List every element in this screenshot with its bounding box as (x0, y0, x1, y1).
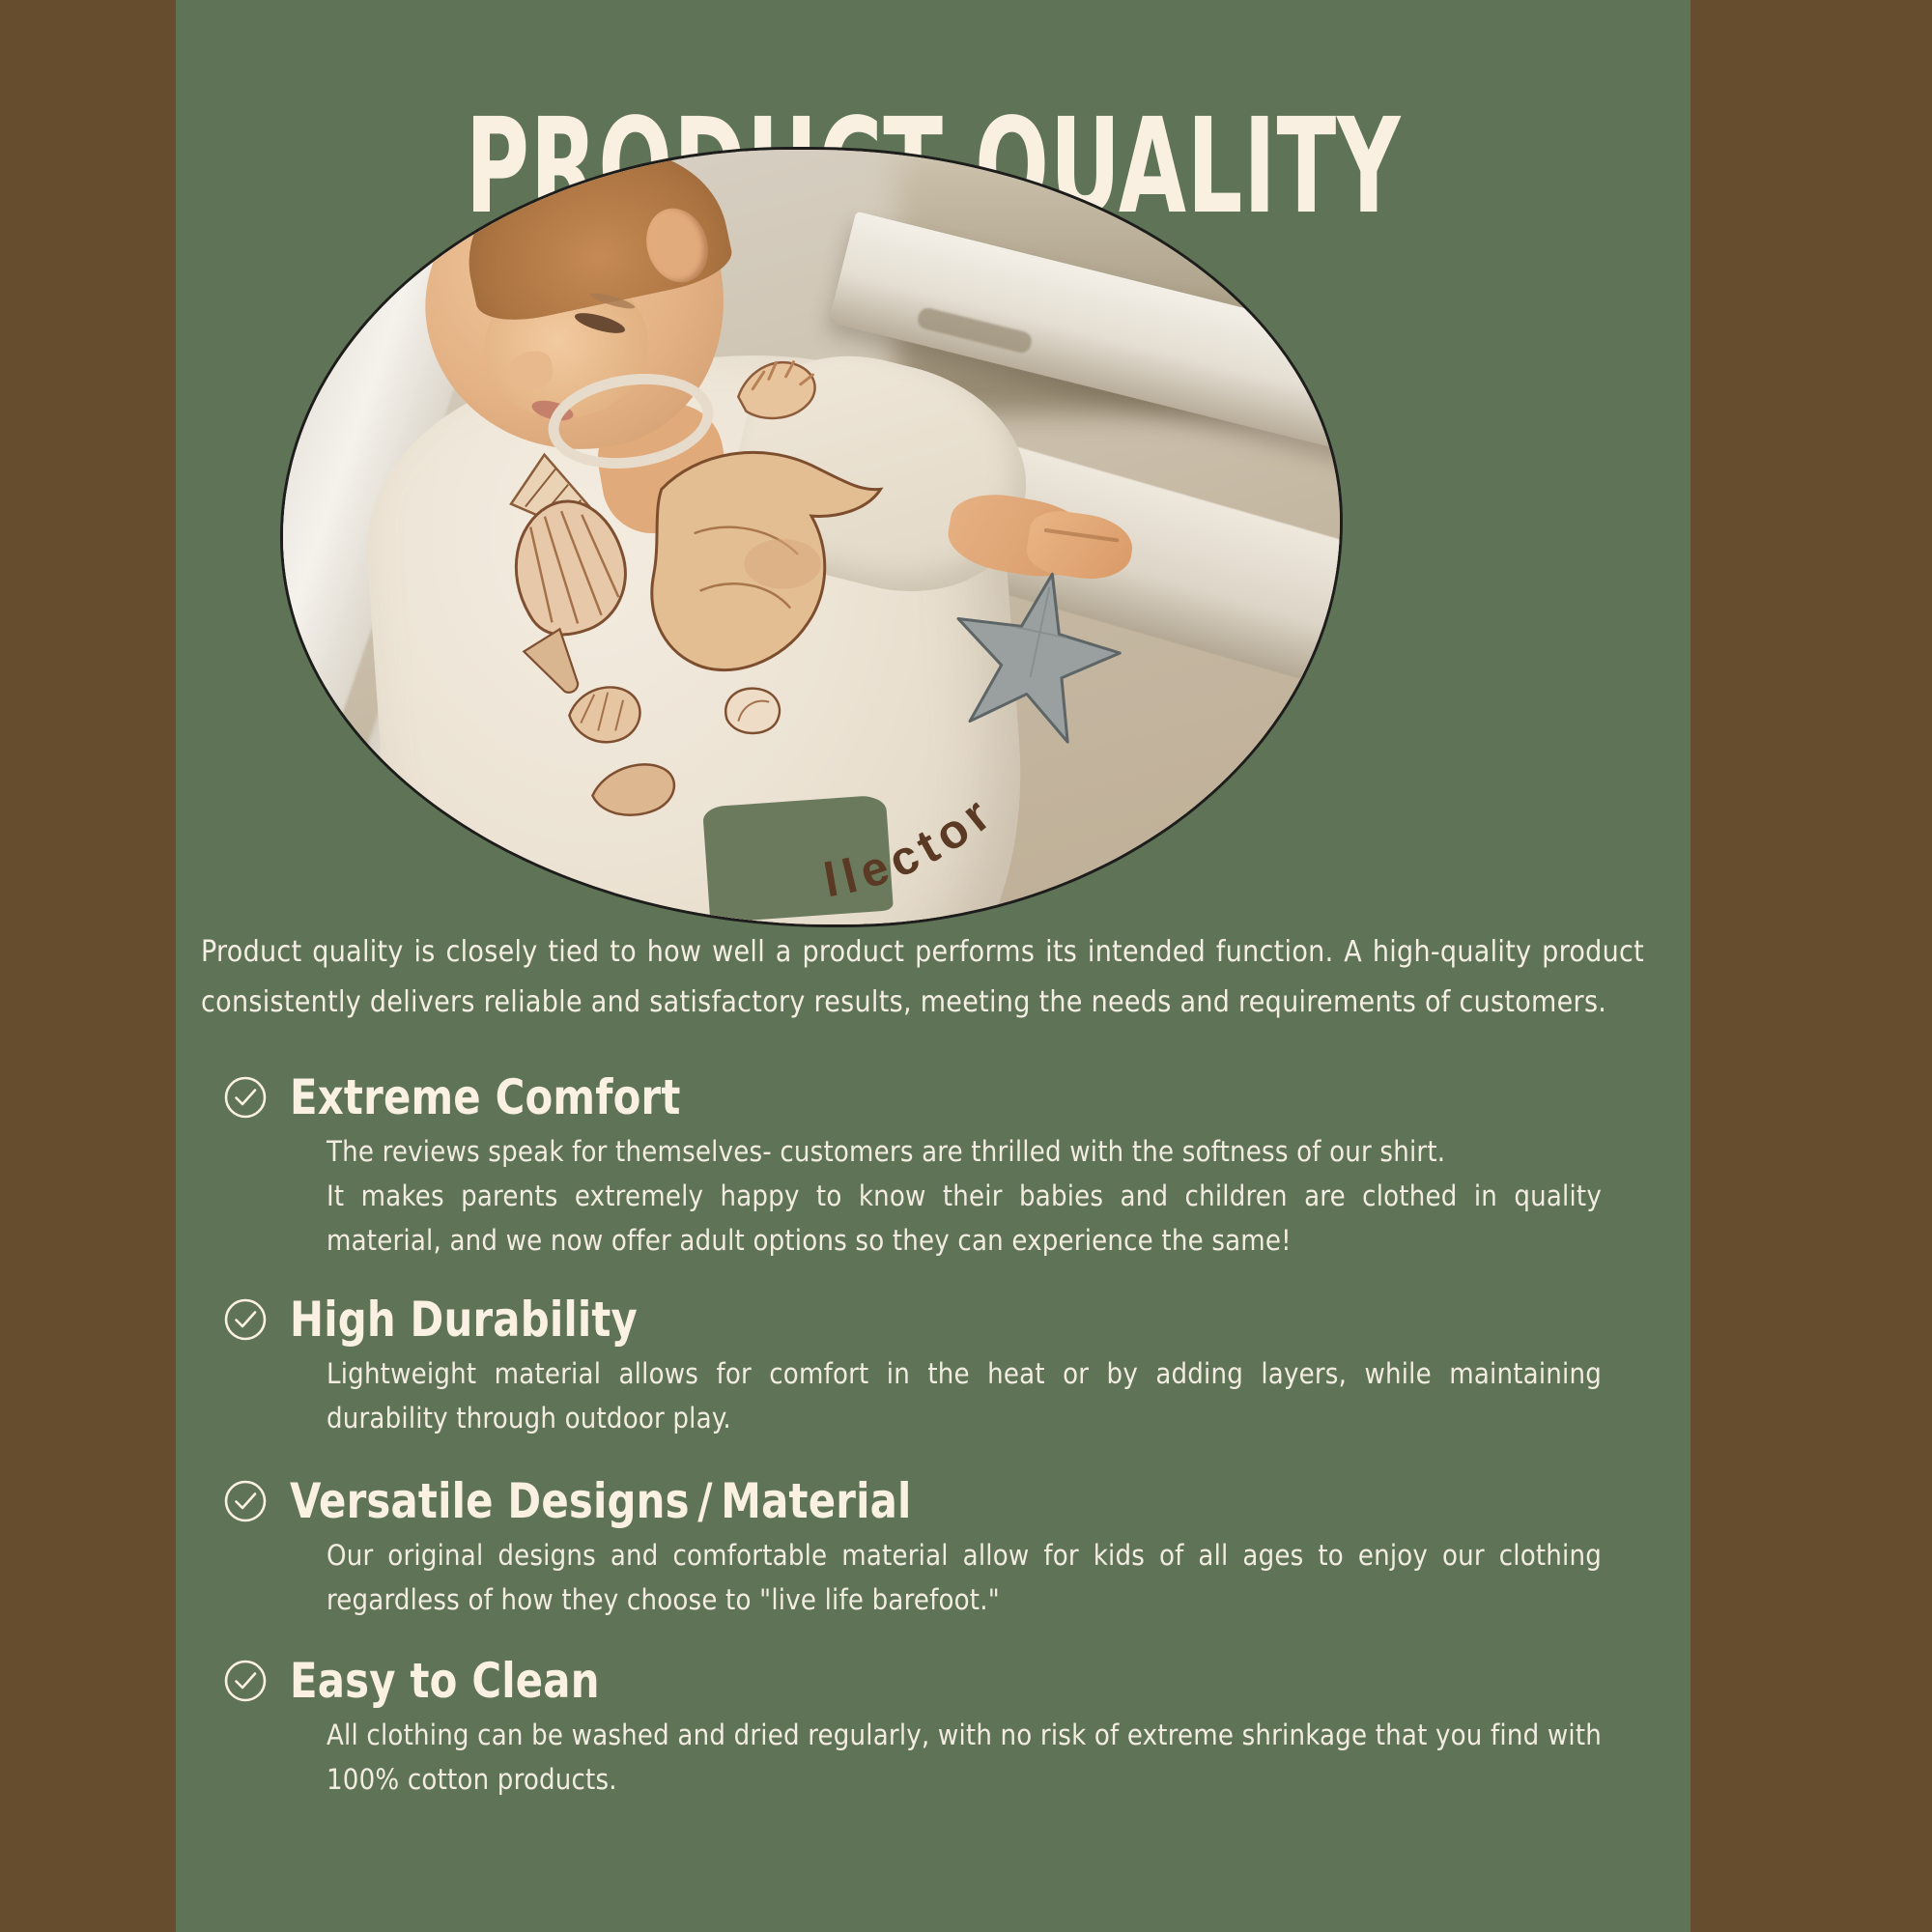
feature-header: Easy to Clean (220, 1651, 1689, 1711)
feature-title: High Durability (290, 1295, 638, 1344)
shirt-graphic-text: llector (820, 783, 1006, 907)
shell-cone-icon (524, 629, 591, 702)
feature-description-line: All clothing can be washed and dried reg… (327, 1713, 1602, 1802)
feature-description-line: It makes parents extremely happy to know… (327, 1174, 1602, 1263)
starfish-icon (938, 556, 1133, 749)
shell-conch-icon (652, 452, 881, 669)
svg-text:llector: llector (820, 783, 1006, 907)
shell-murex-icon (734, 357, 818, 423)
feature-description-line: Our original designs and comfortable mat… (327, 1533, 1602, 1622)
feature-item: Versatile Designs / Material Our origina… (220, 1471, 1689, 1622)
feature-header: High Durability (220, 1290, 1689, 1350)
check-circle-icon (222, 1296, 269, 1343)
feature-title: Extreme Comfort (290, 1073, 681, 1122)
shell-small-cluster-icon (569, 687, 639, 742)
feature-description-line: The reviews speak for themselves- custom… (327, 1129, 1602, 1174)
feature-title: Easy to Clean (290, 1657, 600, 1705)
feature-description: All clothing can be washed and dried reg… (327, 1711, 1602, 1802)
feature-description: The reviews speak for themselves- custom… (327, 1127, 1602, 1263)
hero-photo: llector (280, 147, 1343, 927)
feature-description: Our original designs and comfortable mat… (327, 1531, 1602, 1622)
feature-title: Versatile Designs / Material (290, 1477, 912, 1525)
feature-header: Versatile Designs / Material (220, 1471, 1689, 1531)
feature-list: Extreme Comfort The reviews speak for th… (220, 1067, 1689, 1811)
shell-small-2-icon (588, 759, 678, 822)
feature-description-line: Lightweight material allows for comfort … (327, 1351, 1602, 1440)
check-circle-icon (222, 1658, 269, 1704)
shirt-artwork: llector (283, 150, 1340, 924)
feature-description: Lightweight material allows for comfort … (327, 1350, 1602, 1440)
shell-whelk-icon (725, 689, 780, 733)
content-panel: ’ PRODUCT QUALITY (176, 0, 1690, 1932)
shell-scallop-icon (492, 486, 645, 649)
feature-item: Extreme Comfort The reviews speak for th… (220, 1067, 1689, 1263)
hero-photo-image: llector (283, 150, 1340, 924)
feature-item: High Durability Lightweight material all… (220, 1290, 1689, 1440)
intro-paragraph: Product quality is closely tied to how w… (201, 927, 1644, 1028)
feature-item: Easy to Clean All clothing can be washed… (220, 1651, 1689, 1802)
poster-page: ’ PRODUCT QUALITY (0, 0, 1932, 1932)
check-circle-icon (222, 1478, 269, 1524)
feature-header: Extreme Comfort (220, 1067, 1689, 1127)
check-circle-icon (222, 1074, 269, 1121)
